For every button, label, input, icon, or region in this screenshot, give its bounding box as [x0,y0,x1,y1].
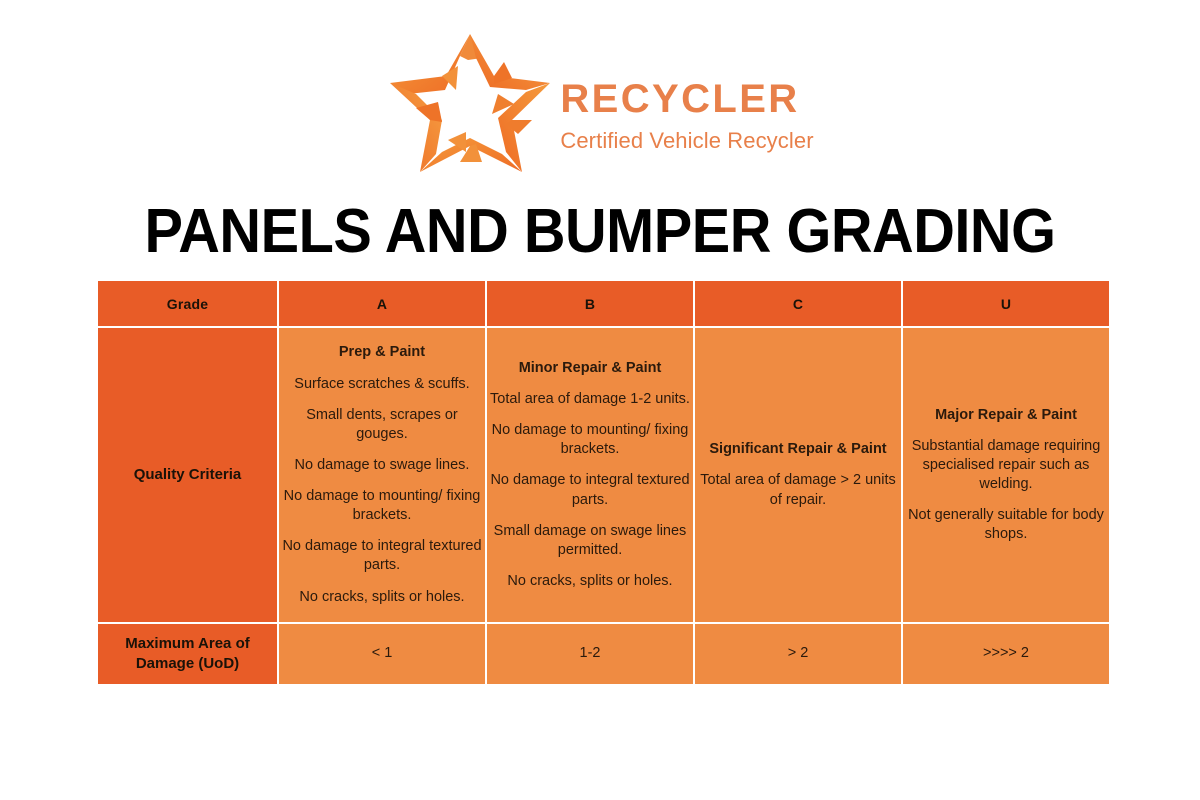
table-row-quality-criteria: Quality Criteria Prep & Paint Surface sc… [98,328,1109,622]
criteria-line: No cracks, splits or holes. [279,588,485,607]
brand-logo: RECYCLER Certified Vehicle Recycler [0,28,1200,178]
max-area-value-u: >>>> 2 [903,624,1109,684]
criteria-cell-a: Prep & Paint Surface scratches & scuffs.… [279,328,485,622]
criteria-cell-u: Major Repair & Paint Substantial damage … [903,328,1109,622]
criteria-line: Not generally suitable for body shops. [903,506,1109,544]
table-header-row: Grade A B C U [98,281,1109,326]
criteria-heading-b: Minor Repair & Paint [487,359,693,378]
header-grade-c: C [695,281,901,326]
logo-wordmark: RECYCLER [560,79,813,119]
criteria-line: No damage to mounting/ fixing brackets. [279,487,485,525]
table-row-max-area-damage: Maximum Area of Damage (UoD) < 1 1-2 > 2… [98,624,1109,684]
criteria-line: Substantial damage requiring specialised… [903,437,1109,494]
criteria-cell-c: Significant Repair & Paint Total area of… [695,328,901,622]
row-label-quality-criteria: Quality Criteria [98,328,277,622]
header-grade-b: B [487,281,693,326]
criteria-line: No damage to swage lines. [279,456,485,475]
criteria-heading-u: Major Repair & Paint [903,406,1109,425]
logo-text: RECYCLER Certified Vehicle Recycler [560,55,813,152]
page-title: PANELS AND BUMPER GRADING [42,196,1158,267]
criteria-heading-c: Significant Repair & Paint [695,440,901,459]
criteria-heading-a: Prep & Paint [279,343,485,362]
criteria-line: No cracks, splits or holes. [487,572,693,591]
criteria-cell-b: Minor Repair & Paint Total area of damag… [487,328,693,622]
criteria-line: Small damage on swage lines permitted. [487,522,693,560]
criteria-line: Total area of damage > 2 units of repair… [695,471,901,509]
criteria-line: No damage to mounting/ fixing brackets. [487,421,693,459]
header-grade: Grade [98,281,277,326]
header-grade-u: U [903,281,1109,326]
logo-tagline: Certified Vehicle Recycler [560,130,813,152]
criteria-line: No damage to integral textured parts. [279,537,485,575]
panels-bumper-grading-table: Grade A B C U Quality Criteria Prep & Pa… [96,279,1111,686]
max-area-value-a: < 1 [279,624,485,684]
criteria-line: Total area of damage 1-2 units. [487,390,693,409]
criteria-line: Surface scratches & scuffs. [279,375,485,394]
max-area-value-b: 1-2 [487,624,693,684]
criteria-line: Small dents, scrapes or gouges. [279,406,485,444]
max-area-value-c: > 2 [695,624,901,684]
logo-inner: RECYCLER Certified Vehicle Recycler [386,28,813,178]
criteria-line: No damage to integral textured parts. [487,471,693,509]
row-label-max-area-damage: Maximum Area of Damage (UoD) [98,624,277,684]
header-grade-a: A [279,281,485,326]
recycler-star-logo-icon [386,28,554,178]
